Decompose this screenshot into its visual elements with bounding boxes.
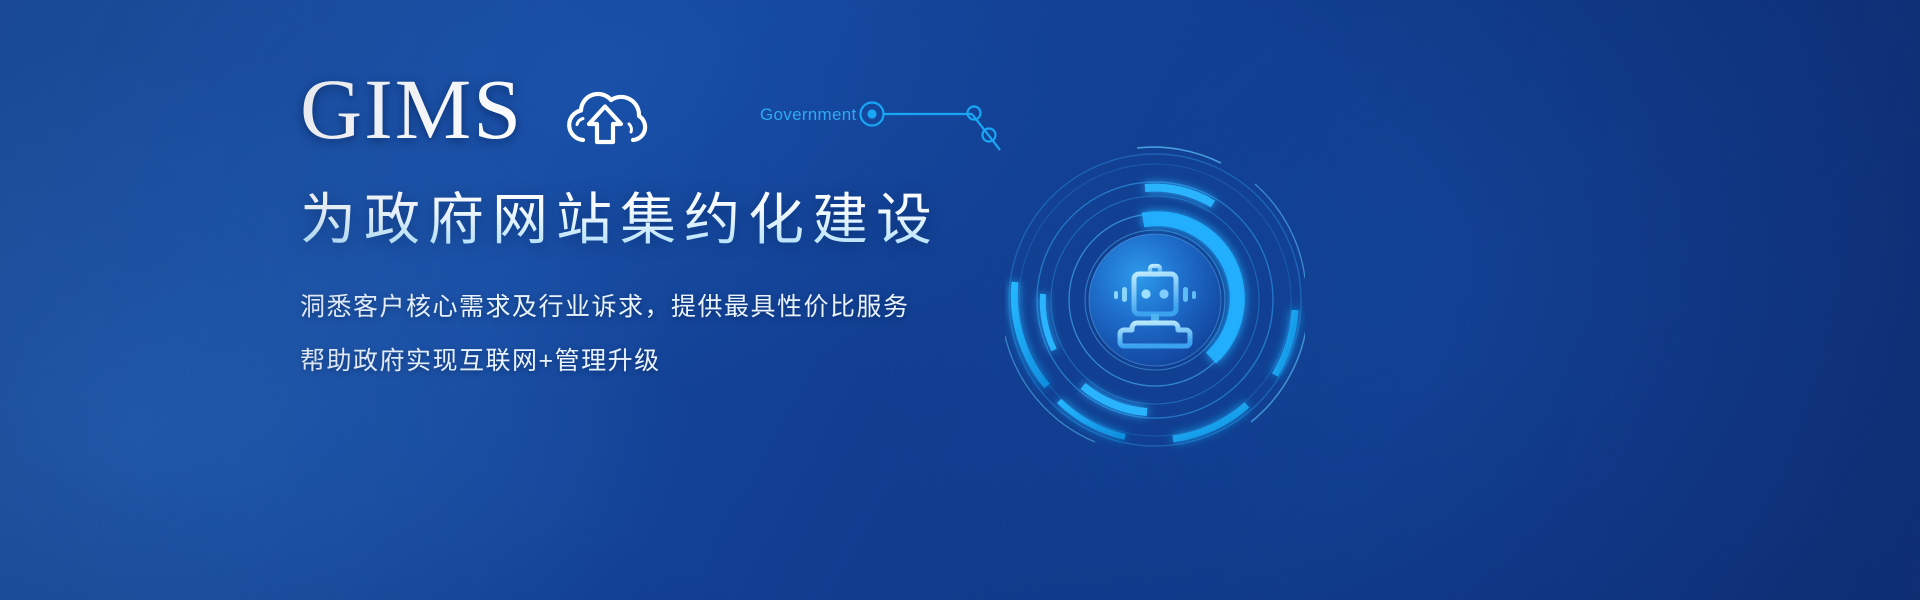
subtitle-group: 洞悉客户核心需求及行业诉求，提供最具性价比服务 帮助政府实现互联网+管理升级 — [300, 295, 910, 374]
subtitle-line-2: 帮助政府实现互联网+管理升级 — [300, 349, 910, 374]
headline: 为政府网站集约化建设 — [300, 185, 940, 255]
brand-row: GIMS — [300, 66, 651, 152]
cloud-upload-icon — [559, 84, 651, 148]
banner-content: GIMS 为政府网站集约化建设 洞悉客户核心需求及行业诉求，提供最具性价比服务 … — [300, 0, 1080, 600]
hero-banner: Government GIMS — [0, 0, 1920, 600]
brand-title: GIMS — [300, 66, 523, 152]
subtitle-line-1: 洞悉客户核心需求及行业诉求，提供最具性价比服务 — [300, 295, 910, 320]
